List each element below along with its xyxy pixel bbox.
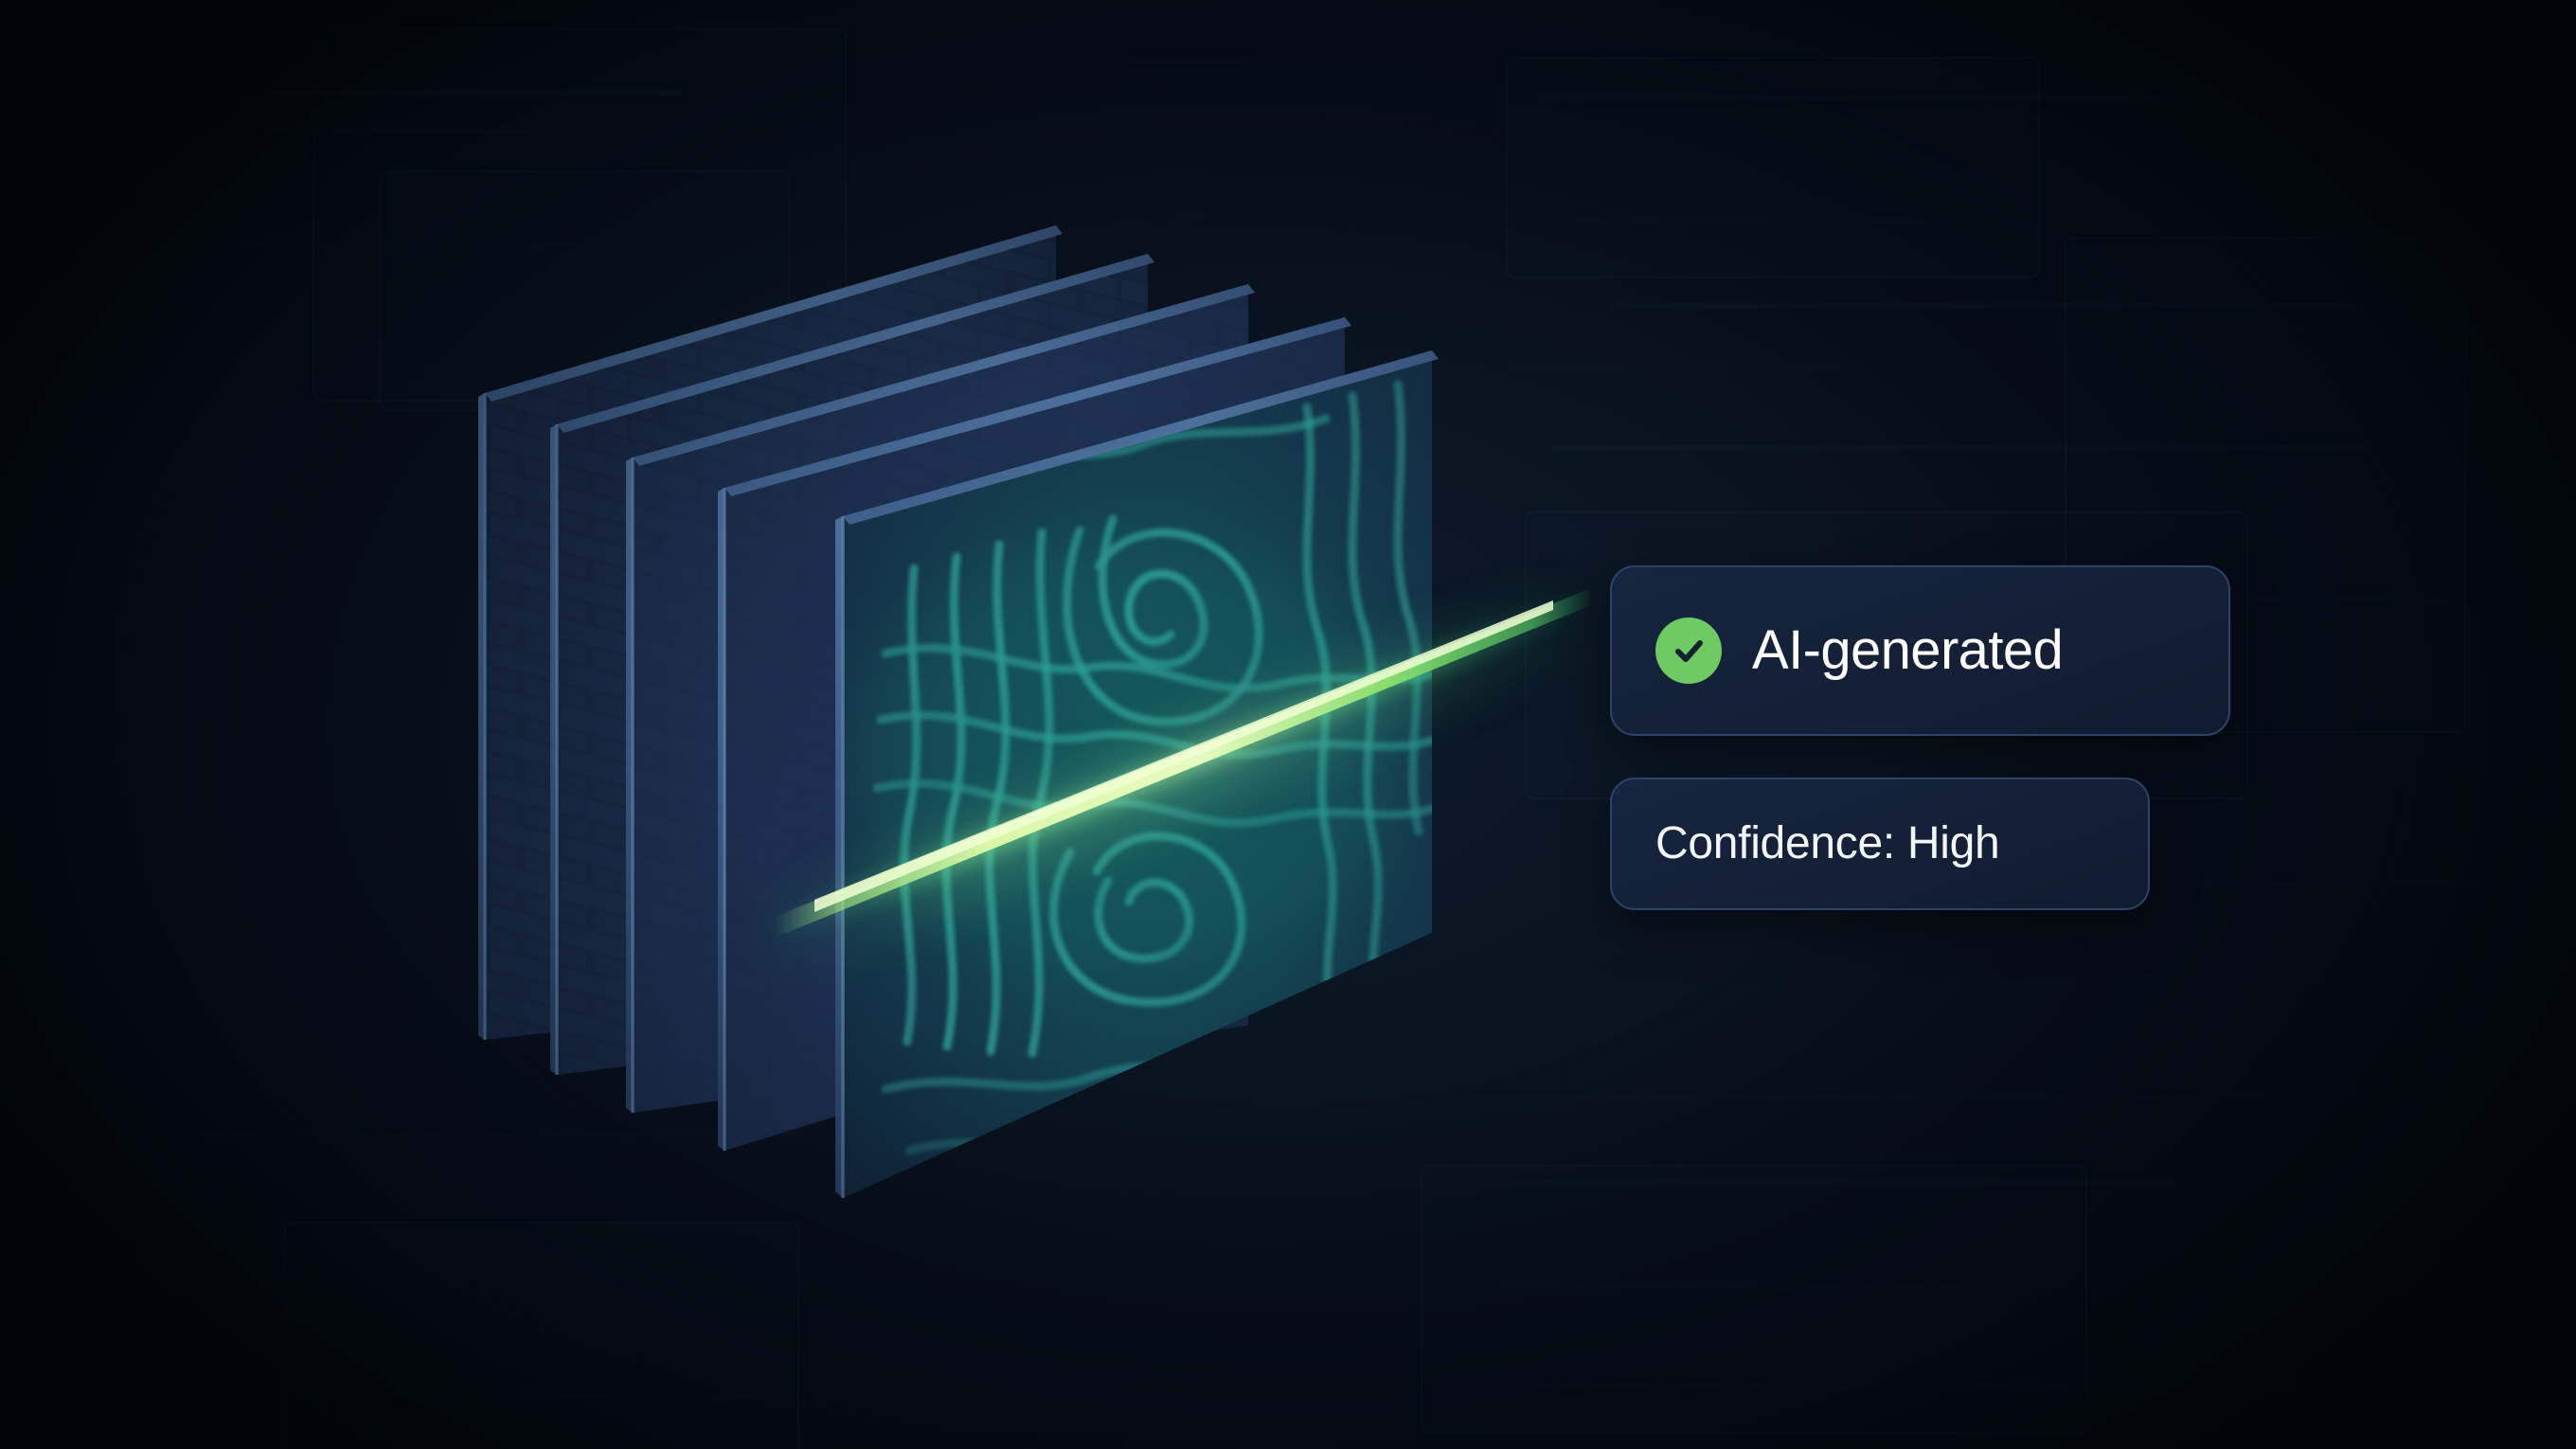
- layer-panel-5-front: [833, 341, 1449, 1212]
- ghost-text-line: [1496, 1283, 2008, 1289]
- ghost-card: [379, 170, 790, 411]
- ghost-text-line: [379, 1392, 786, 1398]
- detection-result-panel: AI-generated Confidence: High: [1610, 565, 2235, 910]
- ghost-text-line: [1515, 1179, 2178, 1185]
- fingerprint-pattern: [833, 341, 1449, 1212]
- confidence-label: Confidence: High: [1655, 821, 1999, 867]
- ghost-text-line: [1468, 1094, 2358, 1100]
- ghost-text-line: [1477, 1383, 2311, 1388]
- layer-panel-1: [474, 218, 1080, 1051]
- ghost-text-line: [1553, 445, 2368, 451]
- ghost-text-line: [218, 128, 530, 134]
- ghost-card: [1421, 1165, 2087, 1434]
- ghost-text-line: [1506, 365, 1847, 370]
- ai-generated-badge[interactable]: AI-generated: [1610, 565, 2230, 736]
- confidence-badge[interactable]: Confidence: High: [1610, 778, 2150, 910]
- ghost-card: [313, 28, 847, 402]
- ghost-text-line: [246, 241, 644, 247]
- ghost-text-line: [1534, 95, 2197, 100]
- ghost-text-line: [199, 1132, 805, 1137]
- detection-visual-scene: AI-generated Confidence: High: [0, 0, 2576, 1449]
- ghost-text-line: [1572, 218, 2008, 224]
- ghost-text-line: [1610, 303, 2358, 309]
- ghost-text-line: [152, 90, 682, 96]
- layer-panel-3: [620, 275, 1274, 1127]
- check-circle-icon: [1655, 617, 1722, 684]
- ghost-text-line: [2197, 881, 2481, 886]
- layer-panel-2: [545, 244, 1170, 1087]
- scan-beam: [758, 582, 1601, 966]
- ghost-card: [1506, 57, 2040, 278]
- ai-generated-label: AI-generated: [1752, 623, 2063, 678]
- ghost-text-line: [1004, 57, 1250, 63]
- ghost-card: [284, 1222, 799, 1449]
- layer-panel-4: [712, 308, 1366, 1160]
